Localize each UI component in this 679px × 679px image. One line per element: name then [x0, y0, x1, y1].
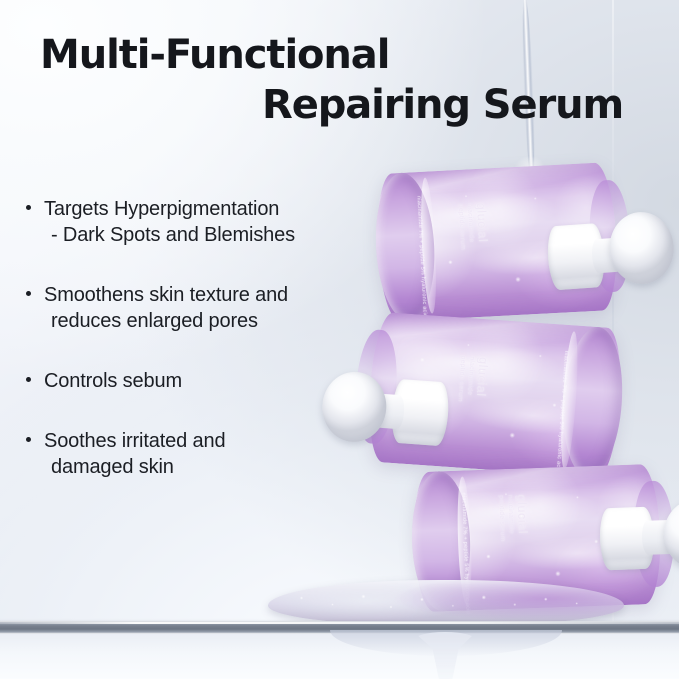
bullet-line-2: - Dark Spots and Blemishes — [44, 222, 382, 248]
headline-line-1: Multi-Functional — [40, 30, 640, 80]
bullet-line-2: damaged skin — [44, 454, 382, 480]
list-item: Controls sebum — [22, 368, 382, 394]
page-title: Multi-Functional Repairing Serum — [40, 30, 640, 130]
bullet-dot-icon — [26, 377, 31, 382]
bullet-line-1: Soothes irritated and — [44, 428, 382, 454]
dropper-bulb — [663, 498, 679, 570]
dropper-bulb — [607, 210, 676, 286]
list-item: Targets Hyperpigmentation - Dark Spots a… — [22, 196, 382, 248]
list-item: Smoothens skin texture and reduces enlar… — [22, 282, 382, 334]
glass-shelf-highlight — [0, 622, 679, 624]
bullet-line-1: Smoothens skin texture and — [44, 282, 382, 308]
bullet-line-1: Controls sebum — [44, 368, 382, 394]
dropper-cap-top — [545, 207, 679, 300]
dropper-cap-bottom — [599, 496, 679, 581]
headline-line-2: Repairing Serum — [40, 80, 640, 130]
product-marketing-image: niacinamide 7% + peptide 5% hyaluronic a… — [0, 0, 679, 679]
serum-pool-sparkle — [274, 586, 618, 616]
bullet-dot-icon — [26, 291, 31, 296]
bullet-dot-icon — [26, 205, 31, 210]
list-item: Soothes irritated and damaged skin — [22, 428, 382, 480]
benefits-list: Targets Hyperpigmentation - Dark Spots a… — [22, 196, 382, 480]
bullet-dot-icon — [26, 437, 31, 442]
bullet-line-1: Targets Hyperpigmentation — [44, 196, 382, 222]
bullet-line-2: reduces enlarged pores — [44, 308, 382, 334]
